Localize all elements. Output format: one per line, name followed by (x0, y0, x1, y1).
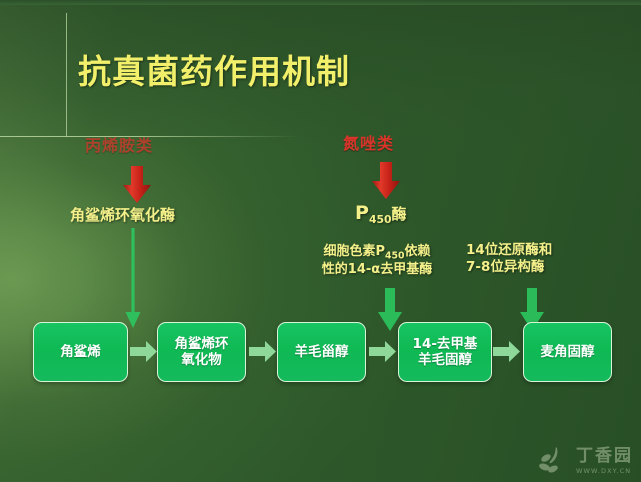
dxy-leaf-logo-icon (537, 446, 571, 476)
watermark-brand: 丁香园 (576, 448, 633, 465)
green-right-arrow-icon (249, 340, 277, 363)
pathway-box-demethyl-lanosterol[interactable]: 14-去甲基 羊毛固醇 (398, 322, 492, 382)
watermark-url: WWW.DXY.CN (576, 468, 633, 475)
green-right-arrow-icon (130, 340, 158, 363)
cyp-line1-end: 依赖 (405, 244, 431, 259)
cyp-line2: 性的14-α去甲基酶 (322, 262, 432, 277)
green-right-arrow-icon (369, 340, 397, 363)
red-down-arrow-icon (122, 166, 152, 204)
page-title: 抗真菌药作用机制 (78, 45, 350, 93)
p450-prefix: P (355, 202, 369, 224)
p450-suffix: 酶 (391, 205, 406, 223)
enzyme-label-reductase-isomerase: 14位还原酶和 7-8位异构酶 (466, 242, 552, 276)
cyp-subscript: 450 (385, 251, 405, 262)
pathway-box-ergosterol[interactable]: 麦角固醇 (523, 322, 612, 382)
red-down-arrow-icon (371, 162, 401, 200)
drug-class-label-allylamines: 丙烯胺类 (85, 132, 153, 156)
enzyme-label-squalene-epoxidase: 角鲨烯环氧化酶 (70, 206, 175, 225)
p450-subscript: 450 (369, 213, 392, 226)
watermark: 丁香园 WWW.DXY.CN (537, 446, 633, 476)
drug-class-label-azoles: 氮唑类 (343, 130, 394, 154)
enzyme-label-p450: P450酶 (355, 202, 407, 226)
enzyme-label-cyp450-demethylase: 细胞色素P450依赖性的14-α去甲基酶 (302, 244, 452, 279)
green-right-arrow-icon (493, 340, 521, 363)
pathway-box-lanosterol[interactable]: 羊毛甾醇 (277, 322, 366, 382)
slide-canvas: 抗真菌药作用机制 丙烯胺类 氮唑类 角鲨烯环氧化酶 P450酶 (0, 0, 641, 482)
slide-top-border (0, 0, 641, 5)
cyp-line1-start: 细胞色素P (323, 244, 385, 259)
pathway-box-squalene[interactable]: 角鲨烯 (33, 322, 128, 382)
pathway-box-squalene-epoxide[interactable]: 角鲨烯环 氧化物 (157, 322, 246, 382)
green-thin-down-arrow-icon (122, 228, 144, 330)
guide-line-vertical (66, 13, 67, 137)
